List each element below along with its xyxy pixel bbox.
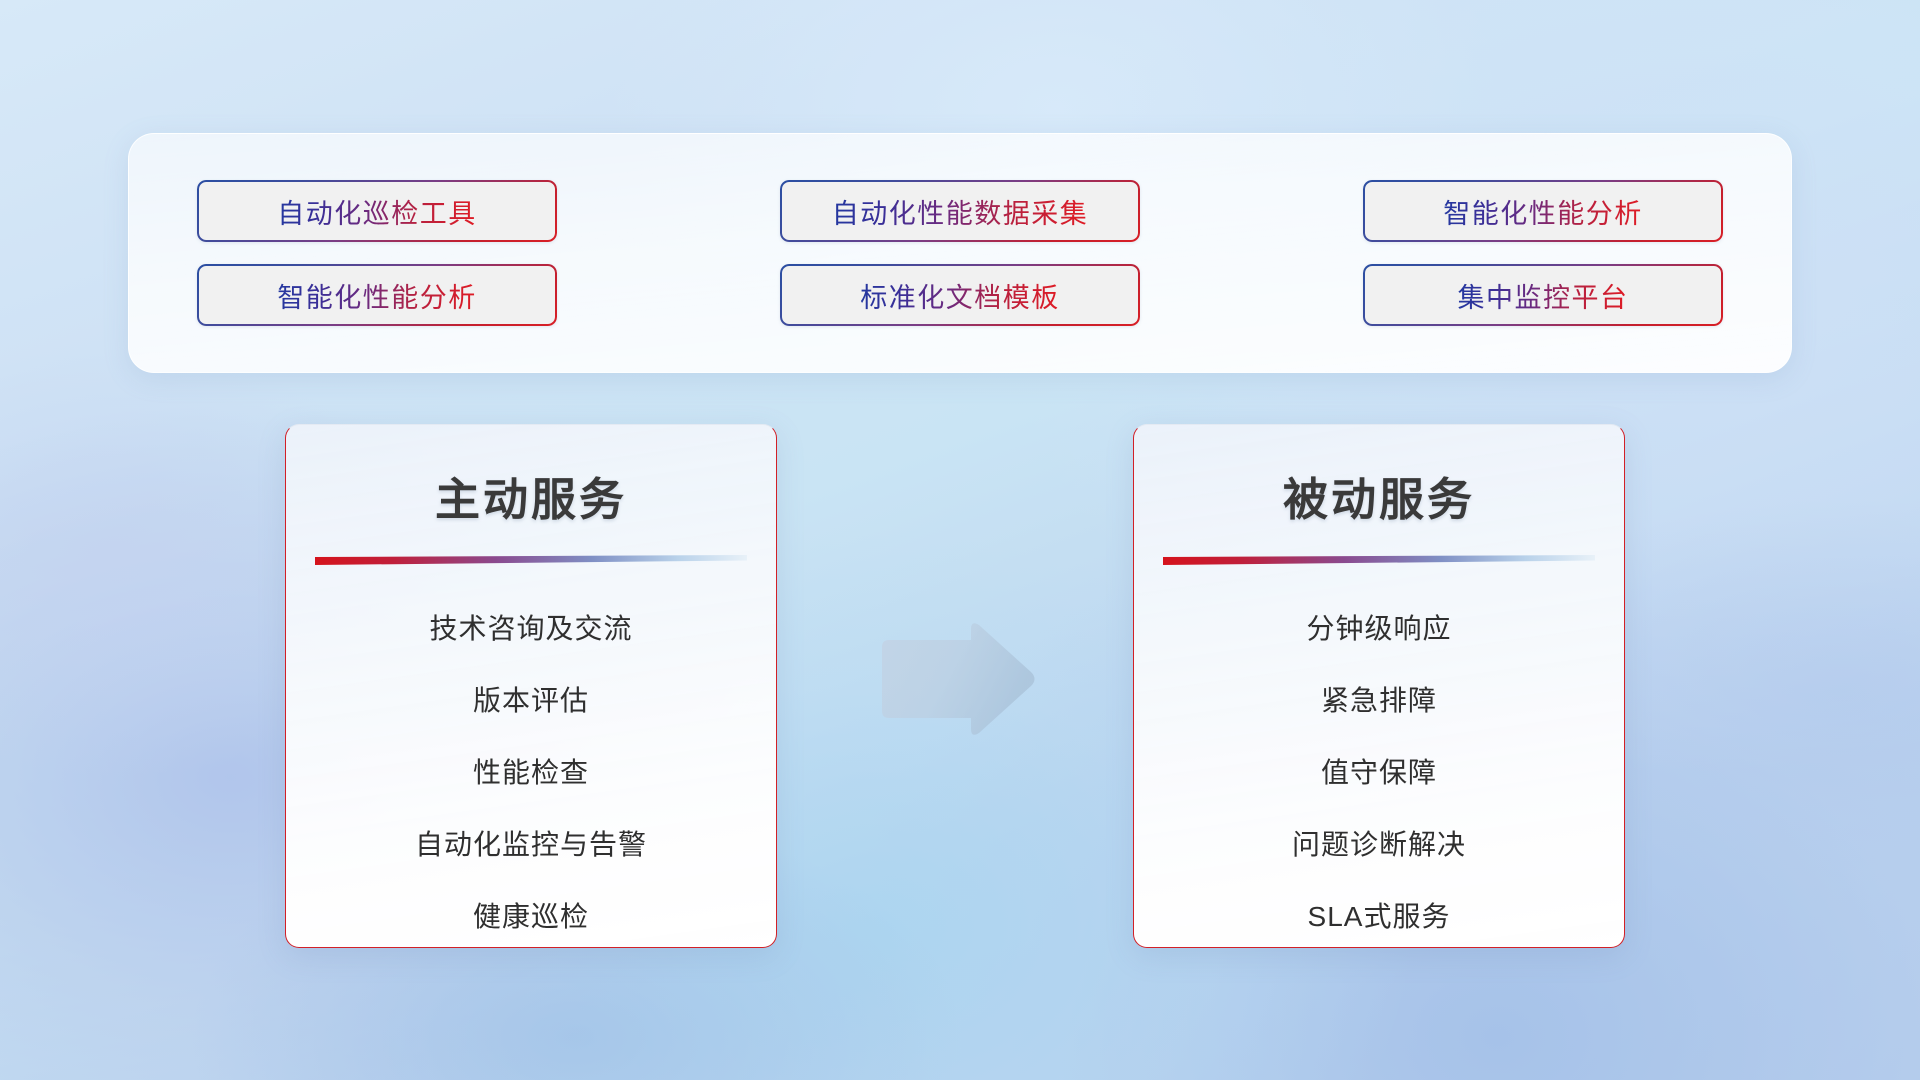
service-card-passive: 被动服务 分钟级响应 紧急排障 值守保障 问题诊断解决 SLA式服务 xyxy=(1133,424,1625,948)
service-list-item: 性能检查 xyxy=(286,737,776,809)
capability-tag-label: 集中监控平台 xyxy=(1458,276,1629,315)
capability-tag-label: 自动化巡检工具 xyxy=(277,192,477,231)
service-list-item: 自动化监控与告警 xyxy=(286,809,776,881)
capability-tag-label: 智能化性能分析 xyxy=(277,276,477,315)
service-list-item: SLA式服务 xyxy=(1134,881,1624,948)
card-title-underline xyxy=(1163,555,1595,565)
service-card-active: 主动服务 技术咨询及交流 版本评估 性能检查 自动化监控与告警 健康巡检 xyxy=(285,424,777,948)
capability-tag-label: 标准化文档模板 xyxy=(860,276,1060,315)
capability-tag[interactable]: 集中监控平台 xyxy=(1363,264,1723,326)
capabilities-row-1: 自动化巡检工具 自动化性能数据采集 智能化性能分析 xyxy=(197,180,1723,242)
service-list-item: 健康巡检 xyxy=(286,881,776,948)
capability-tag-label: 自动化性能数据采集 xyxy=(832,192,1089,231)
card-title-underline xyxy=(315,555,747,565)
capability-tag[interactable]: 自动化巡检工具 xyxy=(197,180,557,242)
flow-arrow-icon xyxy=(876,620,1038,740)
capability-tag[interactable]: 标准化文档模板 xyxy=(780,264,1140,326)
service-list-item: 值守保障 xyxy=(1134,737,1624,809)
service-list-item: 分钟级响应 xyxy=(1134,593,1624,665)
service-item-list: 技术咨询及交流 版本评估 性能检查 自动化监控与告警 健康巡检 xyxy=(286,593,776,948)
capabilities-panel: 自动化巡检工具 自动化性能数据采集 智能化性能分析 智能化性能分析 标准化文档模… xyxy=(128,133,1792,373)
service-list-item: 问题诊断解决 xyxy=(1134,809,1624,881)
card-title: 主动服务 xyxy=(286,463,776,528)
capability-tag[interactable]: 智能化性能分析 xyxy=(197,264,557,326)
service-item-list: 分钟级响应 紧急排障 值守保障 问题诊断解决 SLA式服务 xyxy=(1134,593,1624,948)
capabilities-row-2: 智能化性能分析 标准化文档模板 集中监控平台 xyxy=(197,264,1723,326)
service-list-item: 技术咨询及交流 xyxy=(286,593,776,665)
service-list-item: 紧急排障 xyxy=(1134,665,1624,737)
capability-tag-label: 智能化性能分析 xyxy=(1443,192,1643,231)
capability-tag[interactable]: 自动化性能数据采集 xyxy=(780,180,1140,242)
capability-tag[interactable]: 智能化性能分析 xyxy=(1363,180,1723,242)
service-list-item: 版本评估 xyxy=(286,665,776,737)
card-title: 被动服务 xyxy=(1134,463,1624,528)
